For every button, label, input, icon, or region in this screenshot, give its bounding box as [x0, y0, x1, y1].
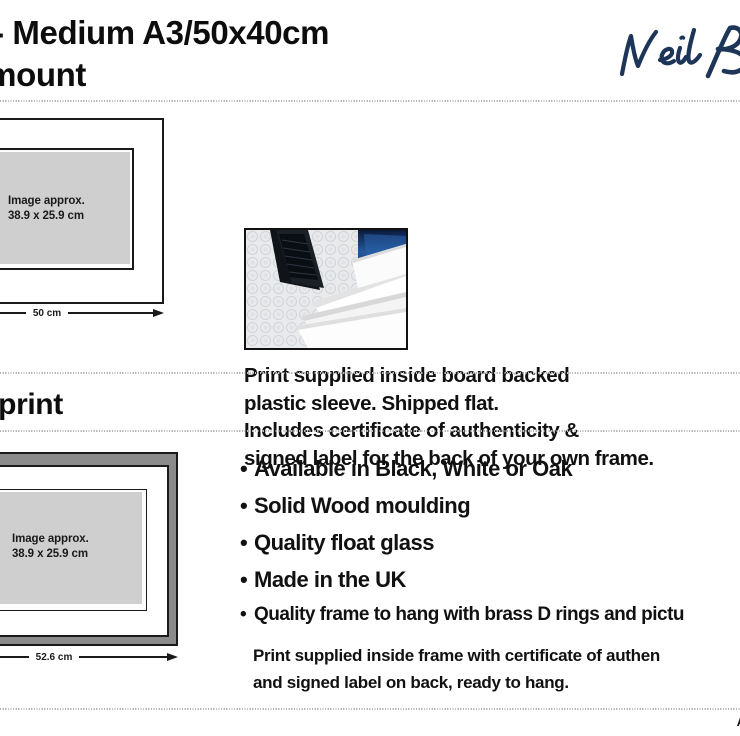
frame-image-caption-line-1: Image approx.: [12, 532, 89, 547]
mounted-print-section: Image approx. 38.9 x 25.9 cm 50 cm: [0, 110, 740, 368]
page-title-line-1: ONS - Medium A3/50x40cm: [0, 12, 634, 54]
dimension-line-right: [68, 312, 154, 314]
frame-image-caption-line-2: 38.9 x 25.9 cm: [12, 547, 89, 562]
packaging-photo: [244, 228, 408, 350]
mount-width-label: 50 cm: [26, 308, 68, 319]
list-item: • Available in Black, White or Oak: [240, 450, 740, 487]
mount-width-dimension: 50 cm: [0, 304, 164, 322]
list-item-label: Solid Wood moulding: [254, 487, 470, 524]
page-header: ONS - Medium A3/50x40cm with mount: [0, 0, 740, 100]
frame-supply-note: Print supplied inside frame with certifi…: [253, 642, 740, 696]
frame-supply-note-line-1: Print supplied inside frame with certifi…: [253, 642, 740, 669]
frame-feature-list: • Available in Black, White or Oak • Sol…: [240, 450, 740, 632]
list-item: • Quality float glass: [240, 524, 740, 561]
framed-print-heading: ed print: [0, 385, 63, 425]
frame-image-caption: Image approx. 38.9 x 25.9 cm: [12, 532, 89, 562]
bullet-marker-icon: •: [240, 524, 254, 561]
dimension-arrow-icon: [153, 309, 164, 317]
mount-image-caption-line-2: 38.9 x 25.9 cm: [8, 209, 85, 224]
list-item: • Solid Wood moulding: [240, 487, 740, 524]
page-title-line-2: with mount: [0, 54, 634, 96]
dimension-line-left: [0, 656, 29, 658]
list-item: • Quality frame to hang with brass D rin…: [240, 598, 740, 632]
frame-supply-note-line-2: and signed label on back, ready to hang.: [253, 669, 740, 696]
list-item-label: Quality float glass: [254, 524, 434, 561]
mount-description-line-2: plastic sleeve. Shipped flat.: [244, 390, 740, 418]
bullet-marker-icon: •: [240, 598, 254, 632]
bullet-marker-icon: •: [240, 487, 254, 524]
framed-print-section: Image approx. 38.9 x 25.9 cm 52.6 cm • A…: [0, 440, 740, 708]
bullet-marker-icon: •: [240, 561, 254, 598]
frame-width-dimension: 52.6 cm: [0, 648, 178, 666]
list-item-label: Available in Black, White or Oak: [254, 450, 572, 487]
divider-above-framed-heading: [0, 372, 740, 374]
dimension-arrow-icon: [167, 653, 178, 661]
divider-bottom: [0, 708, 740, 710]
divider-top: [0, 100, 740, 102]
mount-image-caption-line-1: Image approx.: [8, 194, 85, 209]
list-item-label: Quality frame to hang with brass D rings…: [254, 598, 684, 632]
bullet-marker-icon: •: [240, 450, 254, 487]
mount-description-line-1: Print supplied inside board backed: [244, 362, 740, 390]
brand-logo-signature-icon: N: [612, 18, 740, 90]
mount-diagram: Image approx. 38.9 x 25.9 cm 50 cm: [0, 118, 164, 304]
dimension-line-right: [79, 656, 168, 658]
list-item-label: Made in the UK: [254, 561, 406, 598]
corner-mark: A: [737, 714, 740, 729]
list-item: • Made in the UK: [240, 561, 740, 598]
product-info-sheet: ONS - Medium A3/50x40cm with mount: [0, 0, 740, 736]
frame-diagram: Image approx. 38.9 x 25.9 cm 52.6 cm: [0, 452, 178, 646]
frame-width-label: 52.6 cm: [29, 652, 80, 663]
dimension-line-left: [0, 312, 26, 314]
mount-image-caption: Image approx. 38.9 x 25.9 cm: [8, 194, 85, 224]
divider-below-framed-heading: [0, 430, 740, 432]
page-title: ONS - Medium A3/50x40cm with mount: [0, 12, 634, 96]
